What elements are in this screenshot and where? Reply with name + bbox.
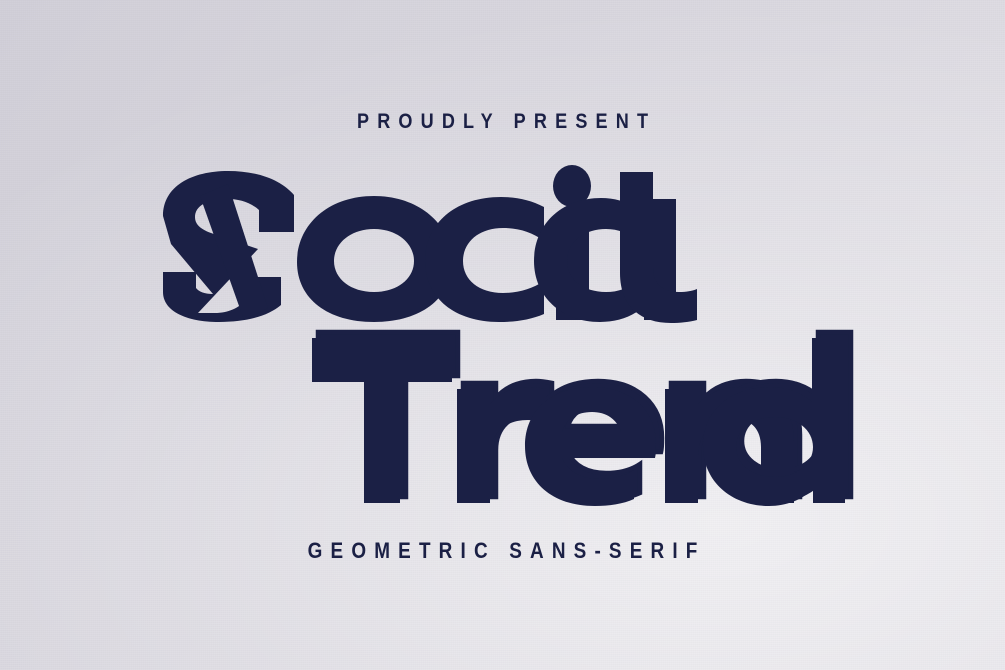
- poster-canvas: PROUDLY PRESENT: [0, 0, 1005, 670]
- tagline-text: GEOMETRIC SANS-SERIF: [70, 538, 934, 564]
- title-line-2-trend: [312, 338, 845, 506]
- kicker-text: PROUDLY PRESENT: [70, 110, 934, 134]
- title-line-1-social: [163, 165, 697, 323]
- wordmark-artwork: [0, 0, 1005, 670]
- title-line-2-trend-outline: [318, 332, 851, 500]
